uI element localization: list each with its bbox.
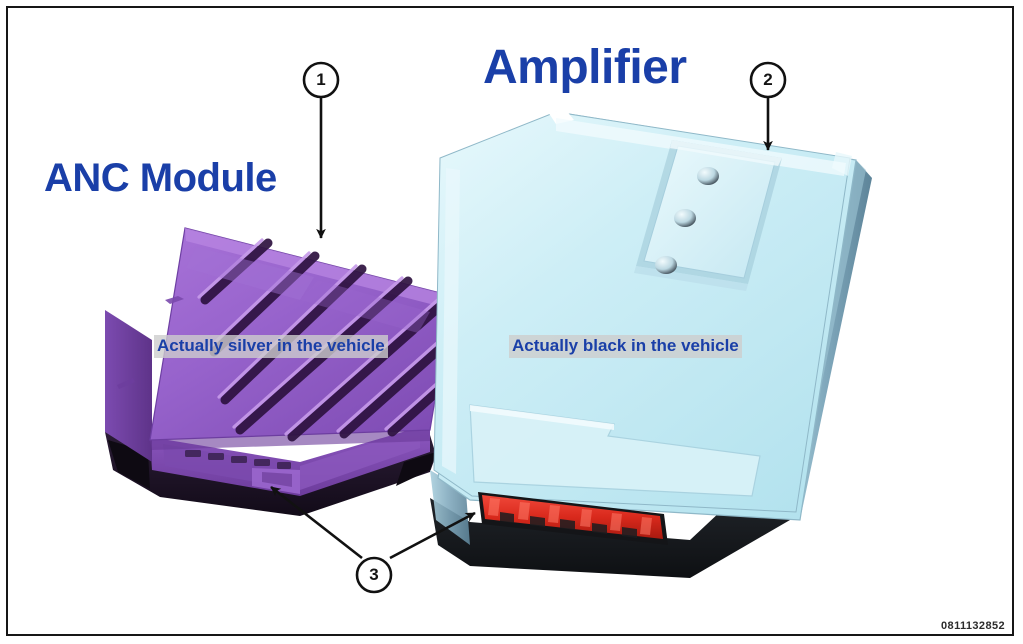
amplifier-title: Amplifier xyxy=(483,40,687,95)
anc-module-title: ANC Module xyxy=(44,156,277,201)
callout-2-circle xyxy=(751,63,785,97)
document-id: 0811132852 xyxy=(941,620,1005,632)
amplifier-color-note: Actually black in the vehicle xyxy=(509,335,742,358)
anc-color-note: Actually silver in the vehicle xyxy=(154,335,388,358)
technical-diagram: ANC Module Amplifier Actually silver in … xyxy=(0,0,1023,644)
callout-3-circle xyxy=(357,558,391,592)
illustration-stage xyxy=(0,0,1023,644)
callout-1-circle xyxy=(304,63,338,97)
anc-module-illustration xyxy=(105,228,452,516)
